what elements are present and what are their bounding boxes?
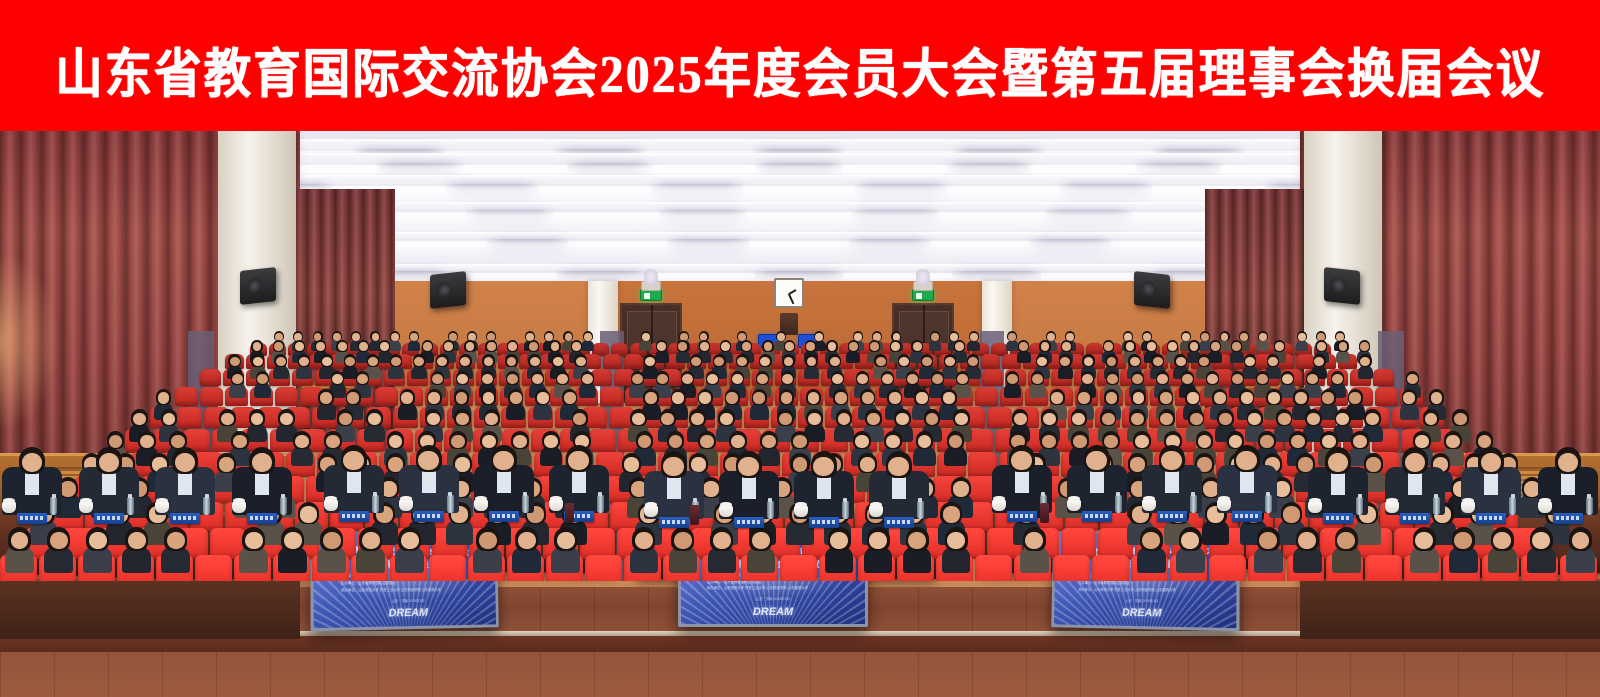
- table-nameplate: [414, 511, 444, 522]
- teacup: [869, 505, 883, 517]
- thermos-flask: [690, 505, 699, 525]
- water-bottle: [1509, 497, 1516, 515]
- vip-person-face: [493, 451, 513, 471]
- table-nameplate: [884, 517, 914, 528]
- vip-person-face: [813, 457, 833, 477]
- water-bottle: [767, 501, 774, 519]
- table-nameplate: [17, 513, 47, 524]
- water-bottle: [203, 497, 210, 515]
- audience-person-face: [518, 532, 536, 549]
- audience-person-face: [89, 532, 107, 549]
- teacup: [1461, 501, 1475, 513]
- table-nameplate: [809, 517, 839, 528]
- table-nameplate: [489, 511, 519, 522]
- vip-person-face: [1011, 451, 1031, 471]
- teacup: [324, 499, 338, 511]
- conference-photo: 山东省教育国际交流协会2025年度会员大会暨第五届理事会换届会议: [0, 0, 1600, 697]
- water-bottle: [447, 495, 454, 513]
- table-nameplate: [1157, 511, 1187, 522]
- teacup: [992, 499, 1006, 511]
- vip-person-face: [568, 451, 588, 471]
- vip-person-face: [1558, 453, 1578, 473]
- water-bottle: [1356, 497, 1363, 515]
- table-nameplate: [94, 513, 124, 524]
- audience-person-face: [479, 532, 497, 549]
- teacup: [232, 501, 246, 513]
- table-nameplate: [247, 513, 277, 524]
- audience-person-face: [128, 532, 146, 549]
- auditorium-room: 山东省教育国际交流协会2025年度会员大会 暨第五届理事会换届会议 指导单位：山…: [0, 131, 1600, 697]
- teacup: [1142, 499, 1156, 511]
- teacup: [644, 505, 658, 517]
- audience-person-face: [557, 532, 575, 549]
- vip-person-face: [343, 451, 363, 471]
- left-screen-sub-3: 承办单位：山东师范大学 齐鲁工业大学 山东财经学院 山东建筑大学: [341, 586, 472, 592]
- water-bottle: [842, 501, 849, 519]
- water-bottle: [1265, 495, 1272, 513]
- audience-person-face: [167, 532, 185, 549]
- vip-person-face: [738, 457, 758, 477]
- teacup: [474, 499, 488, 511]
- table-nameplate: [1400, 513, 1430, 524]
- title-banner: 山东省教育国际交流协会2025年度会员大会暨第五届理事会换届会议: [0, 0, 1600, 131]
- center-screen-date: 山东 · 济南 2025年3月: [688, 596, 857, 601]
- vip-person-face: [888, 457, 908, 477]
- teacup: [1217, 499, 1231, 511]
- vip-person-face: [252, 453, 272, 473]
- teacup: [2, 501, 16, 513]
- thermos-flask: [1040, 503, 1049, 523]
- vip-person-face: [1086, 451, 1106, 471]
- table-nameplate: [170, 513, 200, 524]
- water-bottle: [1190, 495, 1197, 513]
- audience-seating: [0, 331, 1600, 581]
- stage-dais-left: [0, 579, 300, 639]
- audience-person-face: [245, 532, 263, 549]
- water-bottle: [917, 501, 924, 519]
- vip-person-face: [1161, 451, 1181, 471]
- teacup: [399, 499, 413, 511]
- table-nameplate: [1007, 511, 1037, 522]
- table-nameplate: [1232, 511, 1262, 522]
- table-nameplate: [1476, 513, 1506, 524]
- teacup: [1308, 501, 1322, 513]
- stage-dais-right: [1300, 579, 1600, 639]
- water-bottle: [1433, 497, 1440, 515]
- water-bottle: [280, 497, 287, 515]
- right-screen-sub-3: 承办单位：山东师范大学 齐鲁工业大学 山东财经学院 山东建筑大学: [1078, 586, 1209, 592]
- teacup: [1538, 501, 1552, 513]
- vip-person-face: [1405, 453, 1425, 473]
- vip-person-face: [418, 451, 438, 471]
- table-nameplate: [659, 517, 689, 528]
- water-bottle: [597, 495, 604, 513]
- teacup: [719, 505, 733, 517]
- vip-person-face: [663, 457, 683, 477]
- teacup: [79, 501, 93, 513]
- audience-person-face: [284, 532, 302, 549]
- vip-person-face: [99, 453, 119, 473]
- teacup: [155, 501, 169, 513]
- water-bottle: [1115, 495, 1122, 513]
- table-nameplate: [734, 517, 764, 528]
- table-nameplate: [1553, 513, 1583, 524]
- water-bottle: [1586, 497, 1593, 515]
- audience-person-face: [362, 532, 380, 549]
- center-screen-logo: DREAM: [688, 606, 857, 618]
- water-bottle: [522, 495, 529, 513]
- teacup: [794, 505, 808, 517]
- banner-title-text: 山东省教育国际交流协会2025年度会员大会暨第五届理事会换届会议: [55, 24, 1545, 108]
- teacup: [549, 499, 563, 511]
- teacup: [1067, 499, 1081, 511]
- teacup: [1385, 501, 1399, 513]
- water-bottle: [372, 495, 379, 513]
- audience-person-face: [401, 532, 419, 549]
- audience-person-face: [323, 532, 341, 549]
- vip-person-face: [1236, 451, 1256, 471]
- table-nameplate: [339, 511, 369, 522]
- water-bottle: [50, 497, 57, 515]
- audience-person-face: [50, 532, 68, 549]
- water-bottle: [127, 497, 134, 515]
- table-nameplate: [1082, 511, 1112, 522]
- thermos-flask: [565, 503, 574, 523]
- table-nameplate: [1323, 513, 1353, 524]
- center-screen-sub-3: 承办单位：山东师范大学 齐鲁工业大学 山东财经学院 山东建筑大学: [707, 585, 839, 590]
